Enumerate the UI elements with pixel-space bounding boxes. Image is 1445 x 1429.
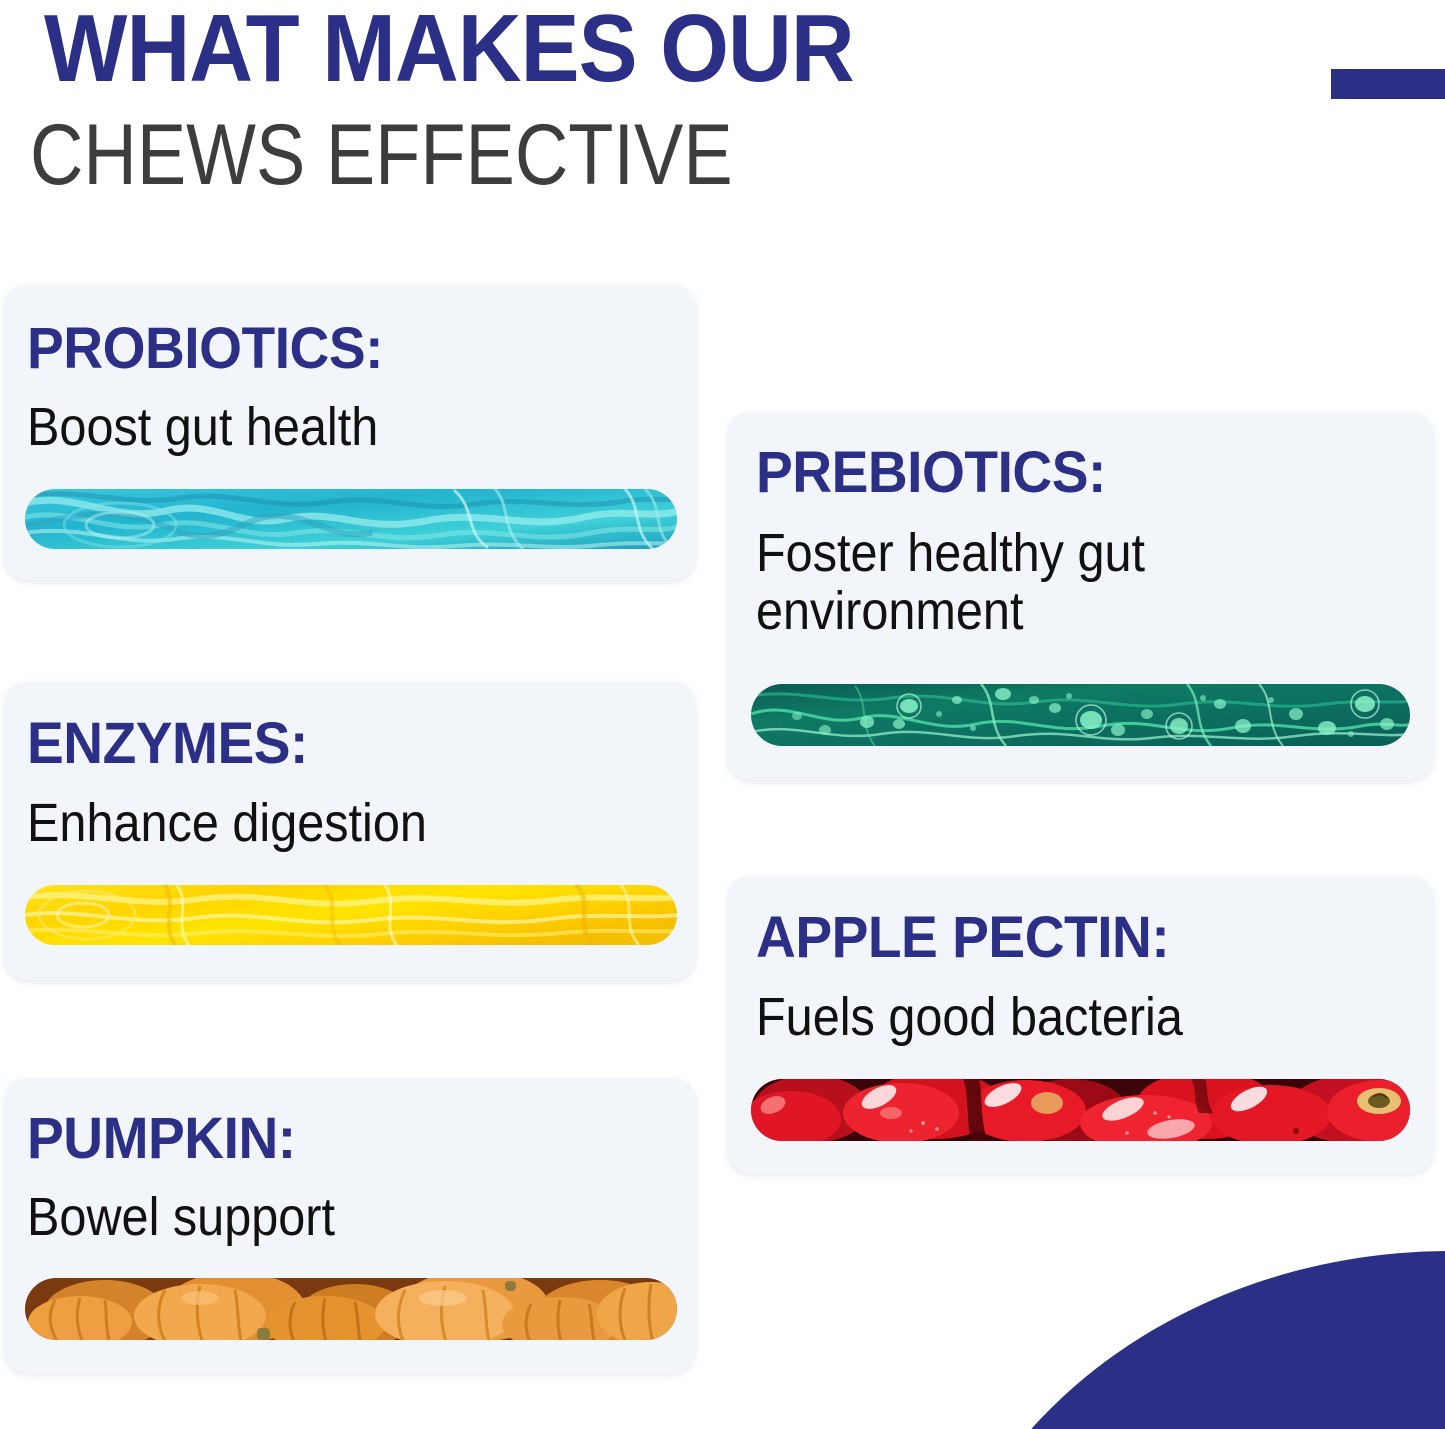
page-title-primary: WHAT MAKES OUR [44, 0, 854, 104]
ingredient-card-enzymes: ENZYMES: Enhance digestion [5, 682, 695, 980]
ingredient-card-apple-pectin: APPLE PECTIN: Fuels good bacteria [728, 876, 1433, 1173]
ingredient-card-probiotics: PROBIOTICS: Boost gut health [5, 285, 695, 580]
page-header: WHAT MAKES OUR CHEWS EFFECTIVE [0, 0, 1445, 230]
card-title: PUMPKIN: [27, 1110, 296, 1168]
card-title: PREBIOTICS: [756, 444, 1106, 502]
apple-photo-swatch [751, 1079, 1410, 1141]
card-title: APPLE PECTIN: [756, 909, 1169, 967]
yellow-marble-swatch [25, 885, 677, 945]
page-title-secondary: CHEWS EFFECTIVE [30, 106, 733, 205]
cyan-marble-swatch [25, 489, 677, 549]
title-dash-decoration [1331, 69, 1445, 99]
card-title: ENZYMES: [27, 715, 308, 773]
card-description: Boost gut health [27, 398, 378, 456]
card-description: Bowel support [27, 1188, 335, 1246]
navy-curve-decoration [920, 1251, 1445, 1429]
card-description: Foster healthy gut environment [756, 524, 1145, 641]
ingredient-card-prebiotics: PREBIOTICS: Foster healthy gut environme… [728, 412, 1433, 780]
card-description: Enhance digestion [27, 794, 427, 852]
pumpkin-photo-swatch [25, 1278, 677, 1340]
green-marble-swatch [751, 684, 1410, 746]
card-description: Fuels good bacteria [756, 988, 1183, 1046]
ingredient-card-pumpkin: PUMPKIN: Bowel support [5, 1078, 695, 1373]
infographic-canvas: WHAT MAKES OUR CHEWS EFFECTIVE PROBIOTIC… [0, 0, 1445, 1429]
card-title: PROBIOTICS: [27, 320, 383, 378]
